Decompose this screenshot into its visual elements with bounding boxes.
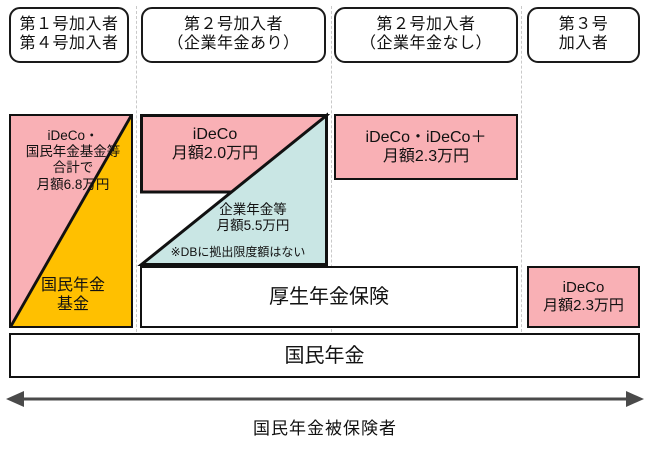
national-pension-fund-label: 国民年金 基金 bbox=[11, 276, 133, 314]
ideco-cat3-line: iDeCo bbox=[563, 279, 605, 297]
header-line: 第３号 bbox=[559, 16, 609, 35]
divider-line-1 bbox=[136, 6, 137, 342]
employees-pension-insurance-bar[interactable]: 厚生年金保険 bbox=[140, 266, 518, 328]
mid-ideco-label: iDeCo 月額2.0万円 bbox=[140, 125, 290, 163]
corporate-pension-label: 企業年金等 月額5.5万円 bbox=[178, 202, 328, 234]
header-box-cat2-without-corporate[interactable]: 第２号加入者 （企業年金なし） bbox=[334, 7, 518, 63]
category1-contribution-block[interactable]: iDeCo・ 国民年金基金等 合計で 月額6.8万円 国民年金 基金 bbox=[9, 114, 133, 328]
header-line: 第２号加入者 bbox=[376, 16, 475, 35]
header-line: 第４号加入者 bbox=[19, 35, 118, 54]
footer-caption-text: 国民年金被保険者 bbox=[253, 419, 397, 438]
header-line: 第１号加入者 bbox=[19, 16, 118, 35]
category2-with-corporate-block[interactable]: iDeCo 月額2.0万円 企業年金等 月額5.5万円 ※DBに拠出限度額はない bbox=[140, 114, 328, 266]
national-pension-bar[interactable]: 国民年金 bbox=[9, 333, 640, 378]
header-line: 加入者 bbox=[559, 35, 609, 54]
diagram-canvas: 第１号加入者 第４号加入者 第２号加入者 （企業年金あり） 第２号加入者 （企業… bbox=[0, 0, 650, 449]
ideco-cat3-line: 月額2.3万円 bbox=[543, 297, 624, 315]
header-line: 第２号加入者 bbox=[184, 16, 283, 35]
national-pension-label: 国民年金 bbox=[285, 344, 365, 368]
footer-caption: 国民年金被保険者 bbox=[0, 414, 650, 439]
divider-line-3 bbox=[521, 6, 522, 342]
double-arrow-icon bbox=[6, 388, 644, 410]
left-ideco-label: iDeCo・ 国民年金基金等 合計で 月額6.8万円 bbox=[11, 128, 133, 193]
ideco-category3-box[interactable]: iDeCo 月額2.3万円 bbox=[527, 266, 640, 328]
ideco-plus-box[interactable]: iDeCo・iDeCo＋ 月額2.3万円 bbox=[334, 114, 518, 180]
header-box-cat2-with-corporate[interactable]: 第２号加入者 （企業年金あり） bbox=[141, 7, 326, 63]
employees-pension-label: 厚生年金保険 bbox=[269, 285, 389, 309]
header-line: （企業年金あり） bbox=[167, 35, 299, 54]
header-line: （企業年金なし） bbox=[360, 35, 492, 54]
db-limit-note: ※DBに拠出限度額はない bbox=[148, 245, 328, 259]
ideco-plus-line: 月額2.3万円 bbox=[383, 147, 469, 166]
ideco-plus-line: iDeCo・iDeCo＋ bbox=[366, 128, 487, 147]
header-box-cat3[interactable]: 第３号 加入者 bbox=[527, 7, 640, 63]
insured-persons-range-arrow bbox=[6, 388, 644, 410]
header-box-cat1[interactable]: 第１号加入者 第４号加入者 bbox=[9, 7, 129, 63]
